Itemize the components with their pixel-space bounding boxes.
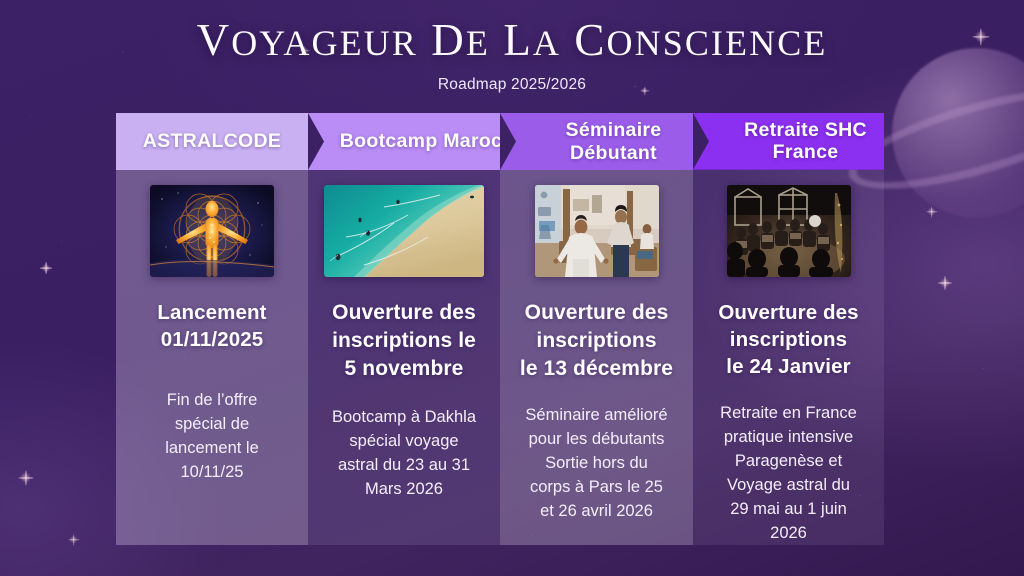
thumbnail-container: [500, 185, 693, 277]
stage-label: Retraite SHCFrance: [744, 119, 867, 163]
column-headline: Ouverture desinscriptionsle 13 décembre: [500, 299, 693, 383]
dakhla-lagoon-kitesurf-image: [324, 185, 484, 277]
sparkle-star-icon: [40, 262, 52, 274]
roadmap-column-retraite-shc-france[interactable]: Retraite SHCFrance: [693, 113, 884, 545]
stage-label: ASTRALCODE: [143, 130, 281, 152]
sparkle-star-icon: [938, 276, 952, 290]
stage-header-retraite-shc-france[interactable]: Retraite SHCFrance: [693, 113, 884, 170]
column-headline: Ouverture desinscriptions le5 novembre: [308, 299, 500, 383]
stage-header-seminaire-debutant[interactable]: SéminaireDébutant: [500, 113, 693, 170]
roadmap-column-seminaire-debutant[interactable]: SéminaireDébutant: [500, 113, 693, 545]
title-block: VOYAGEUR DE LA CONSCIENCE Roadmap 2025/2…: [0, 14, 1024, 94]
seminar-presenters-room-image: [535, 185, 659, 277]
thumbnail-container: [308, 185, 500, 277]
stage-label: Bootcamp Maroc: [340, 130, 500, 152]
sparkle-star-icon: [68, 534, 79, 545]
column-description: Retraite en Francepratique intensivePara…: [693, 401, 884, 545]
retreat-group-circle-night-image: [727, 185, 851, 277]
roadmap-board: ASTRALCODE: [116, 113, 884, 545]
column-headline: Lancement01/11/2025: [116, 299, 308, 354]
stage-header-bootcamp-maroc[interactable]: Bootcamp Maroc: [308, 113, 500, 170]
roadmap-column-bootcamp-maroc[interactable]: Bootcamp Maroc: [308, 113, 500, 545]
column-headline: Ouverture desinscriptionsle 24 Janvier: [693, 299, 884, 381]
column-description: Bootcamp à Dakhlaspécial voyageastral du…: [308, 405, 500, 501]
sparkle-star-icon: [926, 206, 937, 217]
astral-body-flower-of-life-image: [150, 185, 274, 277]
column-description: Fin de l’offrespécial delancement le10/1…: [116, 388, 308, 484]
thumbnail-container: [116, 185, 308, 277]
column-description: Séminaire améliorépour les débutantsSort…: [500, 403, 693, 523]
roadmap-column-astralcode[interactable]: ASTRALCODE: [116, 113, 308, 545]
page-title: VOYAGEUR DE LA CONSCIENCE: [0, 14, 1024, 66]
sparkle-star-icon: [18, 470, 33, 485]
stage-header-astralcode[interactable]: ASTRALCODE: [116, 113, 308, 170]
thumbnail-container: [693, 185, 884, 277]
stage-label: SéminaireDébutant: [566, 119, 662, 163]
page-subtitle: Roadmap 2025/2026: [0, 76, 1024, 94]
